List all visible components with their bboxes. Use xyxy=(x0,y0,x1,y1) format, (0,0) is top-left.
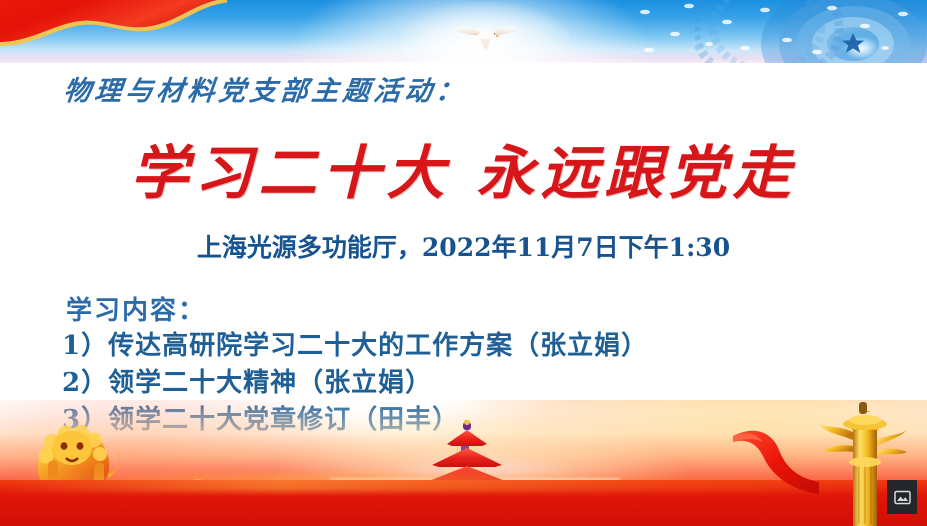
content-heading: 学习内容： xyxy=(66,290,206,327)
list-item: 2）领学二十大精神（张立娟） xyxy=(62,365,892,402)
poster-canvas: 物理与材料党支部主题活动： 学习二十大 永远跟党走 上海光源多功能厅，2022年… xyxy=(0,0,927,526)
venue-datetime: 上海光源多功能厅，2022年11月7日下午1:30 xyxy=(0,228,927,264)
dove-icon xyxy=(448,20,524,52)
image-placeholder-icon xyxy=(894,490,911,505)
activity-subtitle: 物理与材料党支部主题活动： xyxy=(62,69,469,108)
red-flag-icon xyxy=(0,0,227,61)
sparkle-dots-decor xyxy=(627,0,927,63)
page-title: 学习二十大 永远跟党走 xyxy=(0,126,927,210)
image-placeholder-badge[interactable] xyxy=(887,480,917,514)
header-banner xyxy=(0,0,927,63)
list-item: 1）传达高研院学习二十大的工作方案（张立娟） xyxy=(62,328,892,365)
footer-decoration xyxy=(0,400,927,526)
